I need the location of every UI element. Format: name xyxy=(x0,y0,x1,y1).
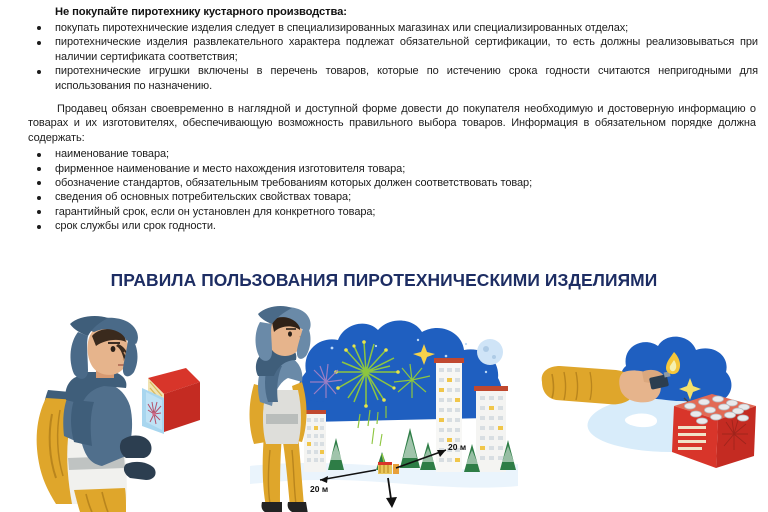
firework-box xyxy=(142,368,200,434)
bullet-list-1: покупать пиротехнические изделия следует… xyxy=(0,21,768,93)
list-item: наименование товара; xyxy=(0,147,768,161)
man-reading-firework-box-icon xyxy=(30,318,210,512)
list-item-text: фирменное наименование и место нахождени… xyxy=(55,163,405,175)
bullet-dot-icon xyxy=(37,26,41,30)
list-item: гарантийный срок, если он установлен для… xyxy=(0,205,768,219)
bullet-dot-icon xyxy=(37,210,41,214)
list-item-text: срок службы или срок годности. xyxy=(55,220,216,232)
lead-title: Не покупайте пиротехнику кустарного прои… xyxy=(0,0,768,21)
bullet-dot-icon xyxy=(37,181,41,185)
list-item-text: гарантийный срок, если он установлен для… xyxy=(55,206,375,218)
list-item: фирменное наименование и место нахождени… xyxy=(0,162,768,176)
bullet-dot-icon xyxy=(37,167,41,171)
night-fireworks-scene-icon: 20 м 20 м 20 м xyxy=(250,310,518,512)
list-item-text: обозначение стандартов, обязательным тре… xyxy=(55,177,532,189)
list-item-text: наименование товара; xyxy=(55,148,169,160)
distance-label-right: 20 м xyxy=(448,442,466,452)
bullet-dot-icon xyxy=(37,196,41,200)
illustration-man-reading-box xyxy=(30,318,210,512)
bullet-dot-icon xyxy=(37,153,41,157)
list-item-text: пиротехнические изделия развлекательного… xyxy=(55,36,758,62)
list-item: пиротехнические изделия развлекательного… xyxy=(0,35,768,64)
building-right xyxy=(474,386,508,472)
poster-page: Не покупайте пиротехнику кустарного прои… xyxy=(0,0,768,512)
list-item: покупать пиротехнические изделия следует… xyxy=(0,21,768,35)
building-left xyxy=(304,410,326,472)
list-item: обозначение стандартов, обязательным тре… xyxy=(0,176,768,190)
hand-lighting-firework-icon xyxy=(538,322,768,472)
illustration-night-fireworks-distance: 20 м 20 м 20 м xyxy=(250,310,518,512)
list-item-text: сведения об основных потребительских сво… xyxy=(55,191,351,203)
illustration-band: 20 м 20 м 20 м xyxy=(0,300,768,512)
illustration-hand-lighting-battery xyxy=(538,322,768,472)
paragraph-seller-obligation: Продавец обязан своевременно в наглядной… xyxy=(0,102,768,145)
bullet-dot-icon xyxy=(37,41,41,45)
page-title: ПРАВИЛА ПОЛЬЗОВАНИЯ ПИРОТЕХНИЧЕСКИМИ ИЗД… xyxy=(0,270,768,291)
list-item-text: покупать пиротехнические изделия следует… xyxy=(55,22,628,34)
bullet-dot-icon xyxy=(37,70,41,74)
list-item: пиротехнические игрушки включены в переч… xyxy=(0,64,768,93)
bullet-list-2: наименование товара; фирменное наименова… xyxy=(0,147,768,233)
spacer xyxy=(0,93,768,102)
bullet-dot-icon xyxy=(37,225,41,229)
list-item: сведения об основных потребительских сво… xyxy=(0,190,768,204)
building-center xyxy=(434,358,464,472)
list-item-text: пиротехнические игрушки включены в переч… xyxy=(55,65,758,91)
firework-battery-box xyxy=(672,394,756,468)
text-content-block: Не покупайте пиротехнику кустарного прои… xyxy=(0,0,768,234)
distance-label-left: 20 м xyxy=(310,484,328,494)
list-item: срок службы или срок годности. xyxy=(0,219,768,233)
